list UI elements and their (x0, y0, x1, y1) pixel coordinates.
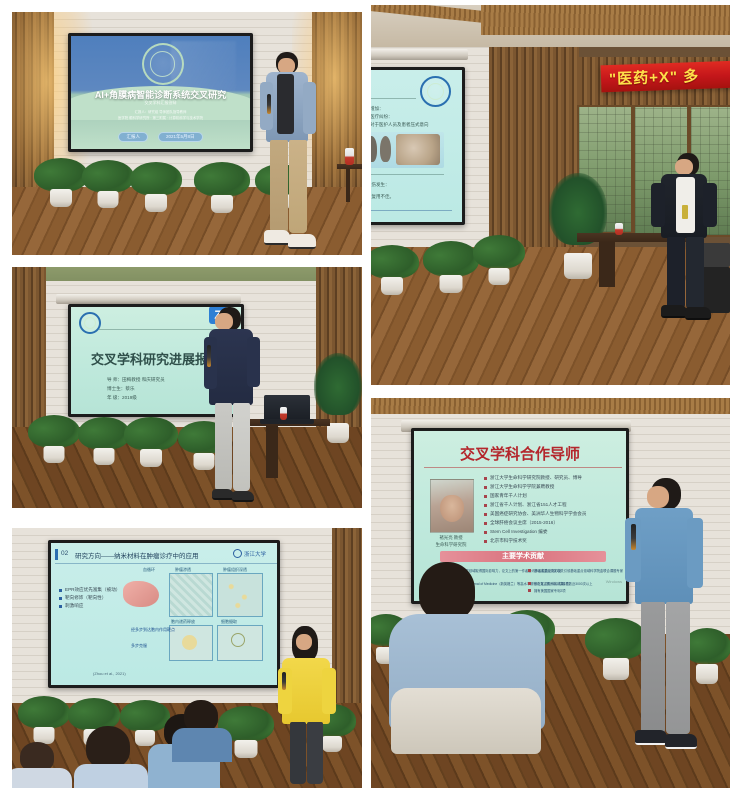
microphone-icon (207, 345, 211, 367)
laptop-keyboard (260, 419, 314, 424)
slide-bullet: 浙江省千人计划、浙江省151人才工程 (484, 502, 567, 508)
speaker-shoe (661, 305, 687, 318)
water-bottle (280, 407, 287, 420)
slide-line: 对于医护人员及患者压式意向 (371, 122, 429, 128)
potted-plant (34, 158, 88, 207)
portrait-caption-affiliation: 生命科学研究院 (422, 542, 480, 548)
speaker-shoe (264, 230, 290, 245)
diagram-label: 细胞摄取 (221, 619, 237, 625)
speaker (204, 307, 266, 508)
slide-bullet: Stem Cell Investigation 编委 (484, 529, 547, 535)
slide-bullet: 浙江大学生命科学学院兼聘教授 (484, 484, 554, 490)
slide-title: 交叉学科合作导师 (414, 443, 626, 464)
diagram-label: 血循环 (143, 567, 155, 573)
microphone-icon (267, 94, 271, 114)
slide-bullet: 刺激响应 (59, 603, 83, 609)
event-banner: "医药+X" 多 (601, 61, 730, 93)
projector-screen: AI+角膜病智能诊断系统交叉研究 交叉学科汇报答辩 汇报人：研究组 导师团队指导… (68, 33, 253, 152)
audience-member (172, 700, 232, 760)
audience-member (12, 742, 72, 788)
slide-content: 增加： 医疗纠纷： 对于医护人员及患者压式意向 避免损伤发生： 构成重复用不佳。 (371, 70, 462, 222)
slide-info-line: 年 级：2019级 (107, 395, 137, 401)
microphone-icon (631, 524, 636, 550)
diagram-label: 胞内递药释放 (171, 619, 195, 625)
potted-plant (371, 245, 419, 295)
speaker (278, 626, 336, 788)
slide-info-line: 导 师：田梅教授 和庆研究员 (107, 377, 165, 383)
slide-bullet: 全球肝癌会议主席（2015-2016） (484, 520, 558, 526)
water-bottle (345, 148, 354, 165)
slide-ai-cornea: AI+角膜病智能诊断系统交叉研究 交叉学科汇报答辩 汇报人：研究组 导师团队指导… (71, 36, 250, 149)
slide-title: 研究方向——纳米材料在肿瘤诊疗中的应用 (75, 550, 199, 560)
potted-plant (78, 417, 130, 465)
potted-palm (314, 353, 362, 443)
speaker (258, 52, 324, 255)
slide-nanomaterial: 02 研究方向——纳米材料在肿瘤诊疗中的应用 浙江大学 EPR效应优先富集（被动… (51, 543, 277, 685)
slide-pill-date: 2021年5月8日 (158, 132, 203, 142)
zju-logo-text: 浙江大学 (244, 550, 266, 558)
laptop-screen (264, 395, 310, 421)
slide-bullet: 国家青年千人计划 (484, 493, 527, 499)
speaker-shoe (212, 489, 234, 500)
slide-line: 构成重复用不佳。 (371, 194, 394, 200)
photo-top-left[interactable]: AI+角膜病智能诊断系统交叉研究 交叉学科汇报答辩 汇报人：研究组 导师团队指导… (12, 12, 362, 255)
speaker-shoe (685, 307, 711, 320)
slide-line: 医疗纠纷： (371, 114, 393, 120)
water-bottle (615, 223, 623, 235)
photo-middle-left[interactable]: Z 交叉学科研究进展报告 导 师：田梅教授 和庆研究员 博士生：蔡乐 年 级：2… (12, 267, 362, 508)
portrait-caption-name: 褚光亮 教授 (422, 535, 480, 541)
speaker-shoe (288, 234, 316, 249)
speaker-torso (635, 508, 693, 604)
slide-line: 避免损伤发生： (371, 182, 390, 188)
windows-watermark: Windows (606, 579, 622, 584)
slide-bullet: 靶向修饰（靶向性） (59, 595, 106, 601)
diagram-note: 经多步到达胞内作用靶点 (131, 627, 175, 633)
photo-bottom-right[interactable]: 交叉学科合作导师 褚光亮 教授 生命科学研究院 浙江大学生命科学研究院教授、研究… (371, 398, 730, 788)
photo-collage: AI+角膜病智能诊断系统交叉研究 交叉学科汇报答辩 汇报人：研究组 导师团队指导… (0, 0, 730, 790)
slide-bullet: 浙江大学生命科学研究院教授、研究员、博导 (484, 475, 582, 481)
advisor-portrait (430, 479, 474, 533)
slide-info-line-2: 医学院 眼科学研究所 · 第三附属 · 计算机科学与技术学院 (71, 115, 250, 120)
university-medical-emblem-icon (142, 43, 184, 85)
slide-bullet: 北京市科学技术奖 (484, 538, 527, 544)
university-medical-emblem-icon (79, 312, 101, 334)
microphone-icon (282, 672, 286, 690)
slide-section-header: 主要学术贡献 (440, 551, 606, 562)
speaker (649, 153, 719, 328)
potted-plant (130, 162, 182, 212)
potted-plant (423, 241, 479, 293)
photo-top-right[interactable]: "医药+X" 多 增加： 医疗纠纷： 对于医护人员及患者压式意向 避免损伤发生： (371, 5, 730, 385)
slide-info-line: 博士生：蔡乐 (107, 386, 135, 392)
projector-screen: 02 研究方向——纳米材料在肿瘤诊疗中的应用 浙江大学 EPR效应优先富集（被动… (48, 540, 280, 688)
diagram-note: 多步克服 (131, 643, 147, 649)
potted-plant (82, 160, 134, 208)
speaker-shoe (232, 491, 254, 502)
slide-header-number: 02 (61, 550, 68, 557)
speaker (625, 478, 705, 768)
slide-citation: (Zhou et al., 2021) (93, 671, 126, 676)
slide-subtitle: 交叉学科汇报答辩 (71, 100, 250, 106)
audience-member (74, 726, 146, 788)
speaker-shoe (635, 730, 667, 745)
potted-plant (18, 696, 70, 744)
slide-pill-presenter: 汇报人 (118, 132, 148, 142)
zju-logo-icon: 浙江大学 (233, 549, 266, 558)
projector-screen: 增加： 医疗纠纷： 对于医护人员及患者压式意向 避免损伤发生： 构成重复用不佳。 (371, 67, 465, 225)
photo-bottom-left[interactable]: 02 研究方向——纳米材料在肿瘤诊疗中的应用 浙江大学 EPR效应优先富集（被动… (12, 528, 362, 788)
speaker-shoe (665, 734, 697, 749)
slide-bullet: EPR效应优先富集（被动） (59, 587, 120, 593)
university-medical-emblem-icon (420, 76, 451, 107)
potted-plant (473, 235, 525, 285)
slide-bullet: 美国癌症研究协会、美洲华人生物科学学会会员 (484, 511, 586, 517)
potted-plant (124, 417, 178, 467)
potted-plant (28, 415, 80, 463)
slide-line: 增加： (371, 106, 384, 112)
potted-plant (194, 162, 250, 213)
sofa (391, 688, 541, 754)
banner-text: "医药+X" 多 (609, 65, 700, 89)
slide-info-line-1: 汇报人：研究组 导师团队指导教师 (71, 109, 250, 114)
